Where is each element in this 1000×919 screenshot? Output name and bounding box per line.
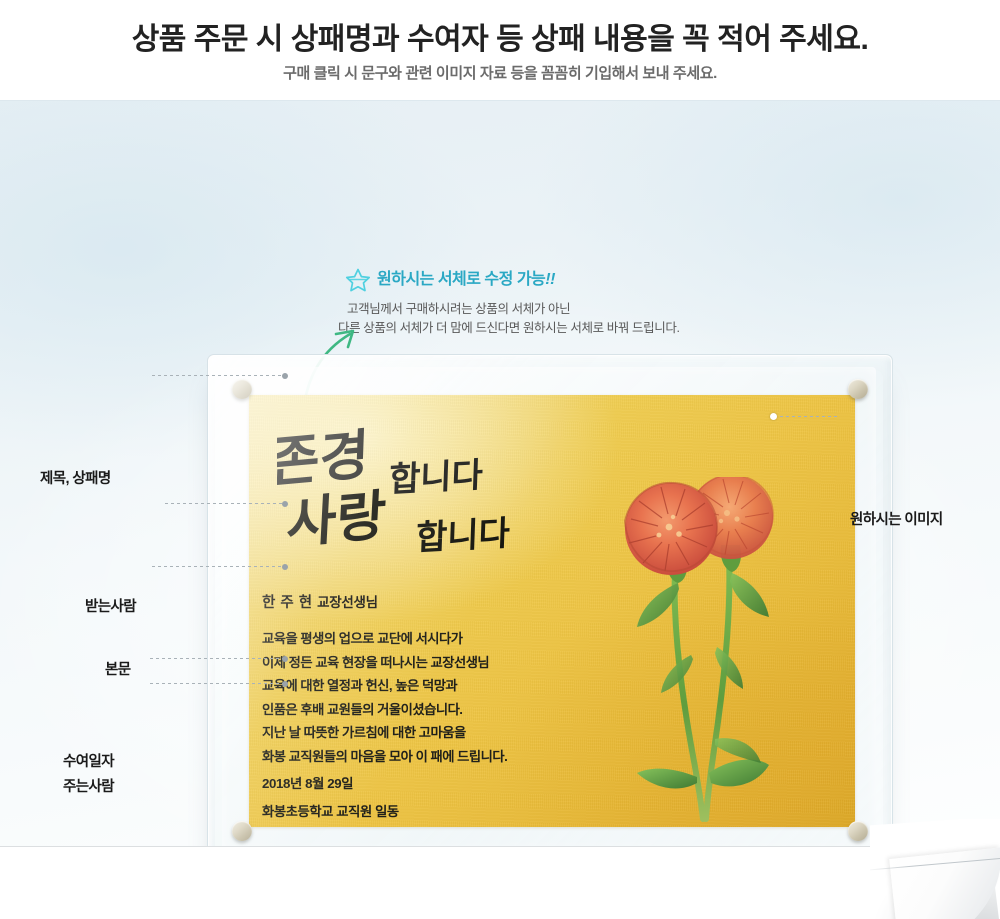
- label-giver: 주는사람: [63, 775, 114, 796]
- leader-line-image: [774, 416, 840, 417]
- page-subtitle: 구매 클릭 시 문구와 관련 이미지 자료 등을 꼼꼼히 기입해서 보내 주세요…: [0, 62, 1000, 83]
- award-plaque: 존경 합니다 사랑 합니다 한 주 현 교장선생님 교육을 평생의 업으로 교단…: [207, 354, 891, 864]
- page-root: 상품 주문 시 상패명과 수여자 등 상패 내용을 꼭 적어 주세요. 구매 클…: [0, 0, 1000, 919]
- callout-description: 고객님께서 구매하시려는 상품의 서체가 아닌 다른 상품의 서체가 더 맘에 …: [345, 300, 775, 338]
- leader-line-date: [150, 658, 285, 659]
- leader-dot: [282, 501, 288, 507]
- leader-line-giver: [150, 683, 285, 684]
- plaque-recipient-title: 교장선생님: [317, 595, 378, 610]
- callout-heading: 원하시는 서체로 수정 가능!!: [345, 265, 775, 293]
- plaque-acrylic-frame: 존경 합니다 사랑 합니다 한 주 현 교장선생님 교육을 평생의 업으로 교단…: [207, 354, 893, 866]
- calligraphy-line1-small: 합니다: [388, 455, 483, 500]
- label-image: 원하시는 이미지: [850, 508, 943, 529]
- stage-top-divider: [0, 100, 1000, 101]
- label-date: 수여일자: [63, 750, 114, 771]
- callout-line-1: 고객님께서 구매하시려는 상품의 서체가 아닌: [347, 300, 775, 319]
- leader-line-body: [152, 566, 285, 567]
- plaque-giver: 화봉초등학교 교직원 일동: [262, 801, 399, 820]
- label-recipient: 받는사람: [85, 595, 136, 616]
- plaque-award-date: 2018년 8월 29일: [262, 773, 353, 792]
- screw-cap-icon: [232, 821, 252, 841]
- plaque-calligraphy-title: 존경 합니다 사랑 합니다: [277, 419, 607, 559]
- leader-dot: [770, 413, 777, 420]
- calligraphy-line2-big: 사랑: [285, 484, 387, 556]
- plaque-recipient: 한 주 현 교장선생님: [262, 591, 378, 612]
- leader-line-title: [152, 375, 285, 376]
- leader-dot: [282, 373, 288, 379]
- callout-title-text: 원하시는 서체로 수정 가능: [377, 271, 545, 288]
- label-title: 제목, 상패명: [40, 467, 111, 488]
- leader-dot: [282, 681, 288, 687]
- screw-cap-icon: [232, 379, 252, 399]
- carnation-flowers-image: [579, 477, 809, 822]
- calligraphy-line1-big: 존경: [277, 423, 370, 495]
- calligraphy-line2-small: 합니다: [415, 514, 510, 559]
- page-title: 상품 주문 시 상패명과 수여자 등 상패 내용을 꼭 적어 주세요.: [0, 14, 1000, 58]
- font-change-callout: 원하시는 서체로 수정 가능!! 고객님께서 구매하시려는 상품의 서체가 아닌…: [345, 265, 775, 338]
- page-curl: [870, 819, 1000, 919]
- leader-line-recipient: [165, 503, 285, 504]
- stage-bottom-band: [0, 847, 880, 919]
- callout-title: 원하시는 서체로 수정 가능!!: [377, 265, 555, 289]
- screw-cap-icon: [848, 379, 868, 399]
- plaque-recipient-name: 한 주 현: [262, 595, 313, 611]
- screw-cap-icon: [848, 821, 868, 841]
- plaque-gold-plate: 존경 합니다 사랑 합니다 한 주 현 교장선생님 교육을 평생의 업으로 교단…: [249, 395, 855, 827]
- star-outline-icon: [345, 267, 371, 293]
- leader-dot: [282, 656, 288, 662]
- leader-dot: [282, 564, 288, 570]
- callout-line-2: 다른 상품의 서체가 더 맘에 드신다면 원하시는 서체로 바꿔 드립니다.: [338, 319, 775, 338]
- page-curl-leaf: [889, 847, 1000, 919]
- label-body: 본문: [105, 658, 130, 679]
- page-header: 상품 주문 시 상패명과 수여자 등 상패 내용을 꼭 적어 주세요. 구매 클…: [0, 0, 1000, 100]
- callout-title-bangs: !!: [545, 271, 555, 288]
- illustration-stage: 원하시는 서체로 수정 가능!! 고객님께서 구매하시려는 상품의 서체가 아닌…: [0, 100, 1000, 919]
